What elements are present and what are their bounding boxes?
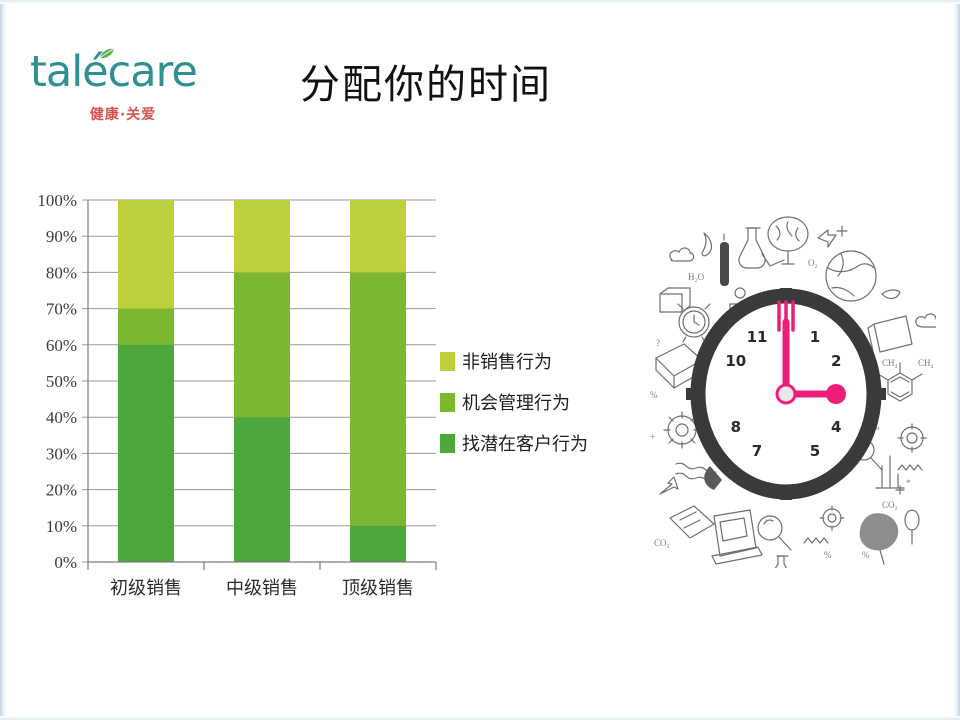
brain-icon <box>768 217 808 264</box>
laptop-icon <box>712 510 762 564</box>
bar-segment <box>350 526 406 562</box>
clock-numeral: 11 <box>747 328 768 346</box>
flask-icon <box>739 228 765 268</box>
legend-swatch <box>440 434 455 453</box>
star-icon <box>896 486 904 494</box>
alarm-clock-icon <box>678 304 710 342</box>
y-axis-tick-label: 30% <box>46 444 77 463</box>
doodle-label-ch4: CH₄ <box>882 358 898 368</box>
gear-right-icon <box>898 424 926 452</box>
bar-segment <box>118 345 174 562</box>
blob-icon <box>860 513 899 550</box>
page-edge-bottom <box>0 716 960 720</box>
leaf-icon <box>99 48 115 60</box>
y-axis-tick-label: 80% <box>46 263 77 282</box>
arrow-up-icon <box>660 477 678 494</box>
legend-label: 非销售行为 <box>462 352 552 373</box>
y-axis-tick-label: 10% <box>46 517 77 536</box>
y-axis-tick-label: 70% <box>46 300 77 319</box>
cloud-icon-right <box>916 314 936 327</box>
legend-label: 机会管理行为 <box>462 393 570 414</box>
doodle-label-star: * <box>906 478 911 488</box>
y-axis-tick-label: 50% <box>46 372 77 391</box>
bar-segment <box>234 200 290 272</box>
x-axis-category-label: 中级销售 <box>226 578 298 599</box>
gear-small-icon <box>820 506 844 530</box>
magnifier-icon <box>758 516 791 550</box>
clock-center-hub <box>777 385 795 403</box>
stacked-bar-chart: 0%10%20%30%40%50%60%70%80%90%100% 初级销售中级… <box>0 180 620 610</box>
clock-numeral: 8 <box>731 418 741 436</box>
arrow-icon <box>818 230 836 247</box>
graph-squiggle-icon <box>762 254 784 266</box>
flame-icon <box>702 233 711 256</box>
clock-marker-12 <box>780 288 792 300</box>
legend-swatch <box>440 352 455 371</box>
y-axis-tick-label: 60% <box>46 336 77 355</box>
logo-tagline: 健康·关爱 <box>30 104 216 124</box>
x-axis-category-label: 顶级销售 <box>342 578 414 599</box>
bar-segment <box>234 417 290 562</box>
brand-logo: talécare 健康·关爱 <box>30 46 230 136</box>
x-axis-ticks <box>88 562 436 570</box>
plus-icon <box>837 226 847 236</box>
clock-doodle-illustration: H₂O O₂ CH₄ CH₄ CO₂ CO₂ % % % % % ? + * <box>636 198 936 568</box>
bar-chart-icon <box>876 456 904 488</box>
legend-label: 找潜在客户行为 <box>462 434 588 455</box>
doodle-label-ch4-2: CH₄ <box>918 358 934 368</box>
page-title: 分配你的时间 <box>300 52 552 110</box>
clock-numeral: 7 <box>752 442 762 460</box>
chart-svg: 0%10%20%30%40%50%60%70%80%90%100% 初级销售中级… <box>0 180 620 610</box>
clock-numeral: 5 <box>810 442 820 460</box>
bar-segment <box>234 272 290 417</box>
doodle-label-percent-5: % <box>862 550 870 560</box>
legend-swatch <box>440 393 455 412</box>
doodle-label-h2o: H₂O <box>688 272 705 282</box>
doodle-label-co2-2: CO₂ <box>654 538 670 548</box>
doodle-label-co2: CO₂ <box>882 500 898 510</box>
bar-segment <box>118 200 174 309</box>
x-axis-category-labels: 初级销售中级销售顶级销售 <box>110 578 414 599</box>
doodle-label-o2: O₂ <box>808 258 818 268</box>
logo-wordmark: talécare <box>30 46 230 98</box>
page-edge-right <box>953 0 960 720</box>
spoon-icon <box>905 510 919 544</box>
hour-hand-tip <box>826 384 846 404</box>
page-edge-top <box>0 0 960 4</box>
clock-numeral: 2 <box>831 352 841 370</box>
bar-segment <box>350 272 406 525</box>
chart-legend: 非销售行为机会管理行为找潜在客户行为 <box>440 352 588 455</box>
clock-numeral: 4 <box>831 418 841 436</box>
clock-foot <box>704 466 722 490</box>
note-icon <box>660 288 690 312</box>
cloud-icon <box>670 248 694 261</box>
y-axis-tick-labels: 0%10%20%30%40%50%60%70%80%90%100% <box>37 191 77 572</box>
clock-numeral: 10 <box>725 352 746 370</box>
clock-marker-3 <box>874 388 886 400</box>
folder-icon <box>868 316 912 356</box>
y-axis-tick-label: 0% <box>54 553 77 572</box>
zigzag-right-icon <box>898 465 922 470</box>
flask-bottom-icon <box>772 556 790 568</box>
clock-numeral: 1 <box>810 328 820 346</box>
small-leaf-icon <box>882 290 900 298</box>
bar-segment <box>118 309 174 345</box>
clock-illustration-svg: H₂O O₂ CH₄ CH₄ CO₂ CO₂ % % % % % ? + * <box>636 198 936 568</box>
zigzag-icon <box>804 538 828 543</box>
clock-marker-9 <box>686 388 698 400</box>
bar-segment <box>350 200 406 272</box>
y-axis-tick-label: 90% <box>46 227 77 246</box>
y-axis-tick-label: 20% <box>46 481 77 500</box>
doodle-label-question: ? <box>656 338 660 348</box>
doodle-label-plus: + <box>650 432 655 442</box>
globe-icon <box>826 251 876 301</box>
x-axis-category-label: 初级销售 <box>110 578 182 599</box>
document-icon <box>670 506 714 538</box>
y-axis-tick-label: 40% <box>46 408 77 427</box>
y-axis-tick-label: 100% <box>37 191 77 210</box>
test-tube-icon <box>720 234 729 286</box>
chart-bars <box>118 200 406 562</box>
clock-marker-6 <box>780 488 792 500</box>
slide-canvas: talécare 健康·关爱 分配你的时间 0%10%20%30%40%50%6… <box>0 0 960 720</box>
doodle-label-percent-4: % <box>824 550 832 560</box>
doodle-label-percent-1: % <box>650 390 658 400</box>
